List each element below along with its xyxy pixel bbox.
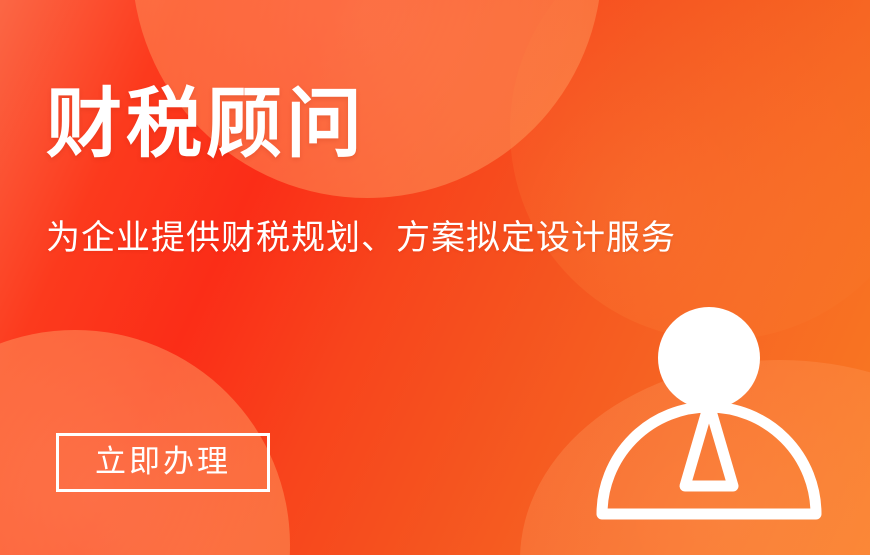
person-head-icon (658, 307, 760, 409)
banner-headline: 财税顾问 (46, 84, 366, 164)
person-advisor-icon-svg (588, 296, 836, 536)
person-advisor-icon (588, 296, 836, 536)
banner-content: 财税顾问 为企业提供财税规划、方案拟定设计服务 立即办理 (0, 0, 870, 555)
promo-banner: 财税顾问 为企业提供财税规划、方案拟定设计服务 立即办理 (0, 0, 870, 555)
apply-now-button[interactable]: 立即办理 (56, 433, 270, 492)
banner-subheadline: 为企业提供财税规划、方案拟定设计服务 (46, 218, 676, 259)
person-collar-icon (685, 404, 733, 486)
